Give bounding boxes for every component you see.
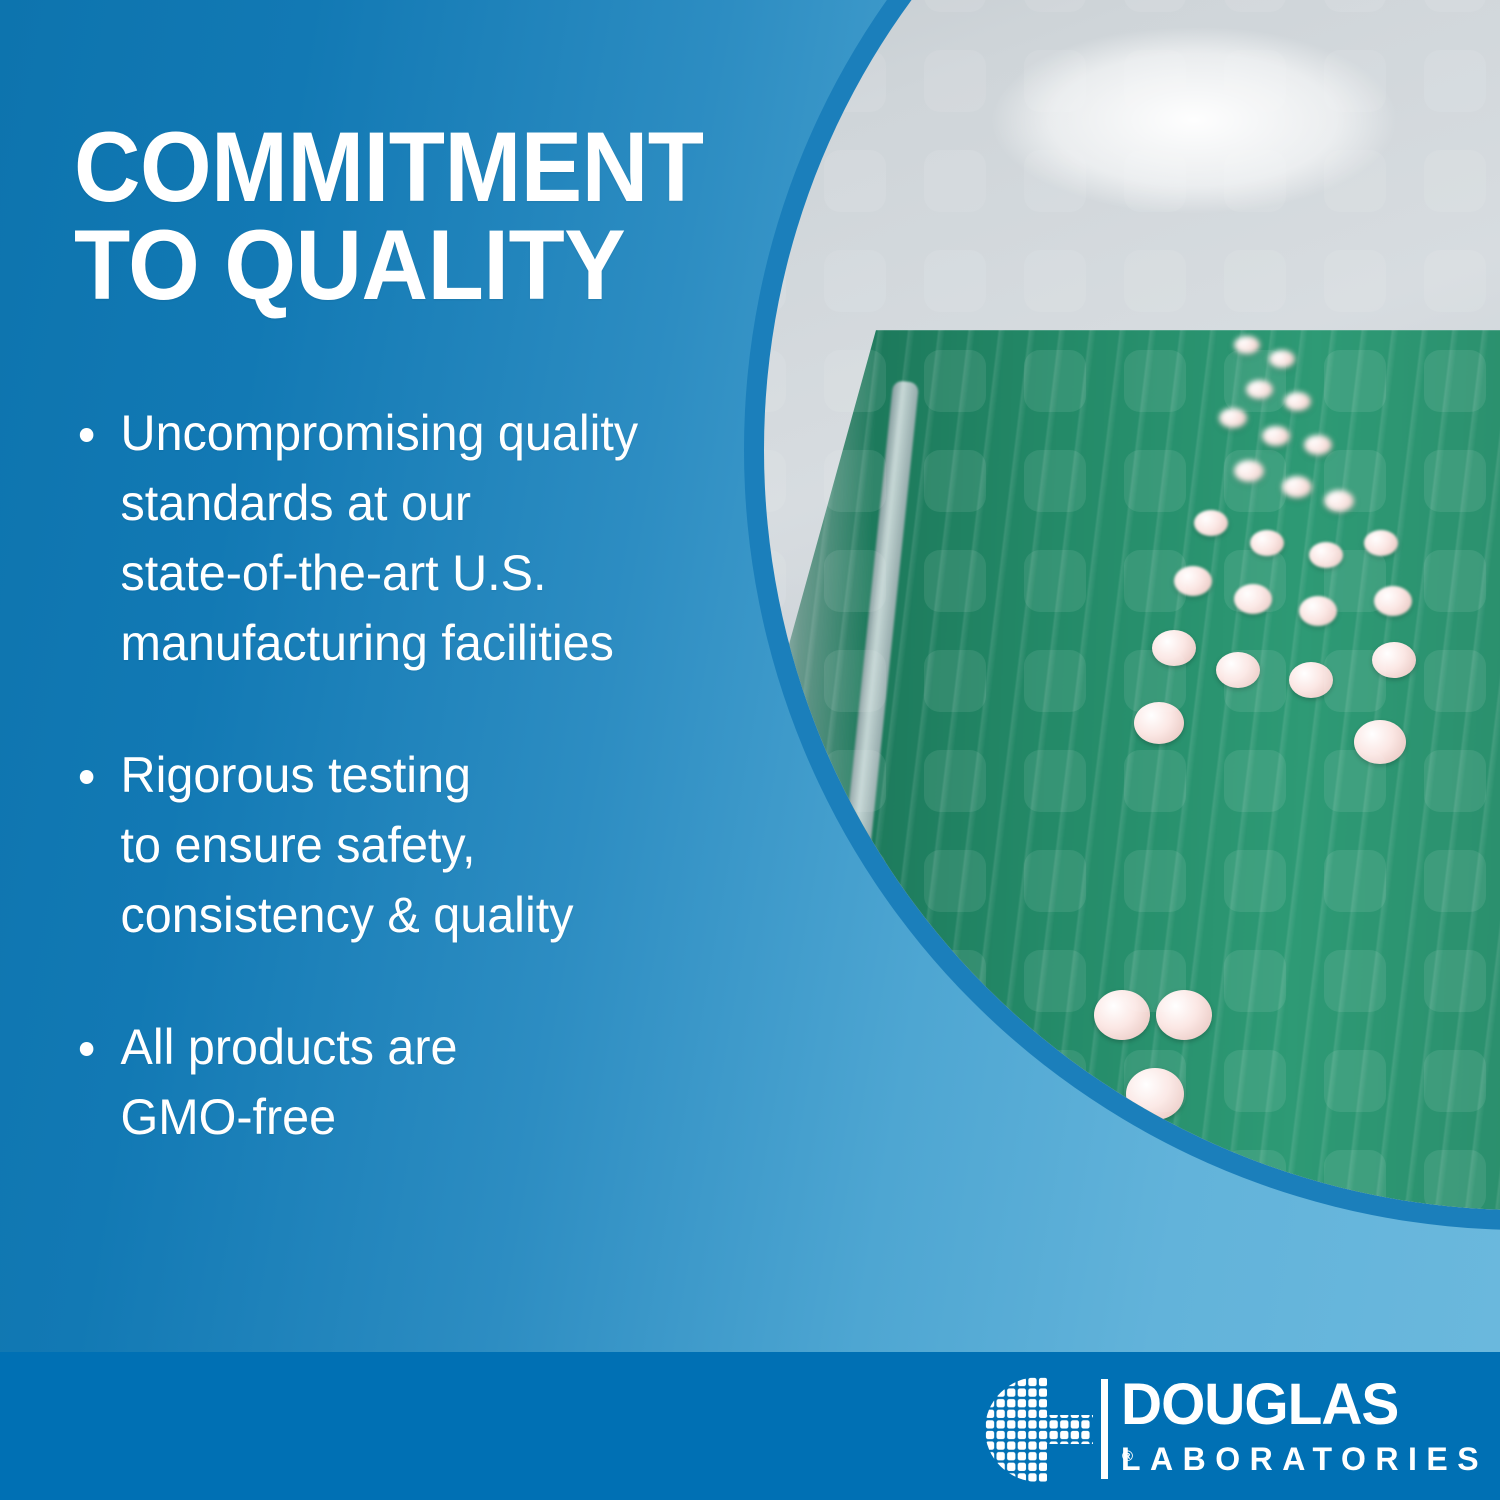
watermark-cell (824, 1150, 886, 1210)
watermark-cell (1024, 1050, 1086, 1112)
watermark-cell (924, 850, 986, 912)
watermark-cell (1024, 750, 1086, 812)
watermark-cell (1024, 150, 1086, 212)
list-item-line: All products are (121, 1012, 744, 1082)
watermark-cell (764, 950, 786, 1012)
watermark-cell (824, 1050, 886, 1112)
watermark-cell (1124, 250, 1186, 312)
list-item-quality-standards: Uncompromising quality standards at our … (74, 398, 743, 678)
photo-clip (764, 0, 1500, 1210)
logo-wordmark: DOUGLAS LABORATORIES® (1121, 1375, 1441, 1478)
watermark-cell (1024, 450, 1086, 512)
watermark-cell (924, 550, 986, 612)
watermark-cell (1124, 950, 1186, 1012)
bullet-dot-icon (80, 428, 94, 442)
watermark-cell (1424, 850, 1486, 912)
watermark-cell (924, 950, 986, 1012)
watermark-cell (1024, 350, 1086, 412)
watermark-cell (1324, 950, 1386, 1012)
watermark-cell (1424, 650, 1486, 712)
watermark-cell (1324, 1050, 1386, 1112)
watermark-cell (1324, 850, 1386, 912)
watermark-cell (924, 250, 986, 312)
watermark-cell (1024, 850, 1086, 912)
list-item-line: consistency & quality (121, 880, 744, 950)
watermark-cell (1224, 750, 1286, 812)
list-item-text: All products are GMO-free (121, 1012, 744, 1152)
watermark-grid-overlay (764, 0, 1500, 1210)
watermark-cell (824, 750, 886, 812)
watermark-cell (924, 350, 986, 412)
watermark-cell (824, 250, 886, 312)
brand-logo: DOUGLAS LABORATORIES® (985, 1375, 1430, 1487)
watermark-cell (1324, 1150, 1386, 1210)
watermark-cell (824, 0, 886, 12)
page-title: COMMITMENT TO QUALITY (74, 118, 706, 314)
list-item-line: manufacturing facilities (121, 608, 744, 678)
watermark-cell (1224, 1150, 1286, 1210)
watermark-cell (924, 150, 986, 212)
watermark-cell (1024, 50, 1086, 112)
watermark-cell (764, 1150, 786, 1210)
watermark-cell (1224, 650, 1286, 712)
watermark-cell (764, 150, 786, 212)
watermark-cell (924, 750, 986, 812)
watermark-cell (1124, 0, 1186, 12)
list-item-rigorous-testing: Rigorous testing to ensure safety, consi… (74, 740, 743, 950)
quality-commitment-banner: COMMITMENT TO QUALITY Uncompromising qua… (0, 0, 1500, 1500)
watermark-cell (764, 1050, 786, 1112)
page-title-line-2: TO QUALITY (74, 216, 706, 314)
watermark-cell (1224, 0, 1286, 12)
watermark-cell (1324, 750, 1386, 812)
copy-column: COMMITMENT TO QUALITY Uncompromising qua… (0, 0, 760, 1352)
bullet-dot-icon (80, 1042, 94, 1056)
watermark-cell (824, 950, 886, 1012)
watermark-cell (1124, 1150, 1186, 1210)
watermark-cell (764, 50, 786, 112)
douglas-g-grid-mark-icon (985, 1377, 1093, 1482)
watermark-cell (1024, 650, 1086, 712)
watermark-cell (1124, 350, 1186, 412)
watermark-cell (824, 650, 886, 712)
watermark-cell (1424, 550, 1486, 612)
watermark-cell (1024, 950, 1086, 1012)
watermark-cell (1124, 50, 1186, 112)
watermark-cell (1324, 150, 1386, 212)
watermark-cell (924, 1050, 986, 1112)
watermark-cell (1324, 50, 1386, 112)
page-title-line-1: COMMITMENT (74, 118, 706, 216)
watermark-cell (1224, 150, 1286, 212)
watermark-cell (1124, 450, 1186, 512)
watermark-cell (1424, 150, 1486, 212)
list-item-line: state-of-the-art U.S. (121, 538, 744, 608)
watermark-cell (824, 850, 886, 912)
logo-subbrand-text: LABORATORIES (1121, 1441, 1488, 1477)
watermark-cell (1424, 1050, 1486, 1112)
watermark-cell (924, 50, 986, 112)
logo-brand-name: DOUGLAS (1121, 1375, 1435, 1435)
watermark-cell (1424, 250, 1486, 312)
watermark-cell (1024, 550, 1086, 612)
watermark-cell (764, 850, 786, 912)
watermark-cell (1124, 650, 1186, 712)
registered-trademark-icon: ® (1122, 1438, 1143, 1476)
watermark-cell (1424, 50, 1486, 112)
watermark-cell (1424, 1150, 1486, 1210)
watermark-cell (1124, 550, 1186, 612)
list-item-line: standards at our (121, 468, 744, 538)
watermark-cell (824, 450, 886, 512)
watermark-cell (764, 750, 786, 812)
logo-subbrand-name: LABORATORIES® (1121, 1440, 1441, 1478)
watermark-cell (764, 550, 786, 612)
list-item-line: Uncompromising quality (121, 398, 744, 468)
watermark-cell (1024, 0, 1086, 12)
watermark-cell (1224, 350, 1286, 412)
watermark-cell (764, 650, 786, 712)
list-item-line: to ensure safety, (121, 810, 744, 880)
watermark-cell (924, 1150, 986, 1210)
watermark-cell (1124, 150, 1186, 212)
watermark-cell (1324, 0, 1386, 12)
watermark-cell (824, 550, 886, 612)
watermark-cell (1424, 450, 1486, 512)
watermark-cell (1324, 650, 1386, 712)
watermark-cell (764, 450, 786, 512)
bullet-dot-icon (80, 770, 94, 784)
watermark-cell (1124, 1050, 1186, 1112)
watermark-cell (1424, 0, 1486, 12)
watermark-cell (824, 150, 886, 212)
watermark-cell (924, 650, 986, 712)
watermark-cell (1324, 550, 1386, 612)
list-item-text: Rigorous testing to ensure safety, consi… (121, 740, 744, 950)
list-item-text: Uncompromising quality standards at our … (121, 398, 744, 678)
watermark-cell (1224, 450, 1286, 512)
watermark-cell (924, 450, 986, 512)
watermark-cell (1124, 850, 1186, 912)
watermark-cell (1224, 50, 1286, 112)
list-item-line: GMO-free (121, 1082, 744, 1152)
list-item-line: Rigorous testing (121, 740, 744, 810)
watermark-cell (1224, 950, 1286, 1012)
photo-circle-frame (744, 0, 1500, 1230)
watermark-cell (824, 350, 886, 412)
watermark-cell (1424, 950, 1486, 1012)
watermark-cell (924, 0, 986, 12)
watermark-cell (1024, 1150, 1086, 1210)
watermark-cell (1124, 750, 1186, 812)
watermark-cell (824, 50, 886, 112)
logo-divider (1101, 1379, 1108, 1479)
watermark-cell (1424, 750, 1486, 812)
watermark-cell (1224, 850, 1286, 912)
watermark-cell (1324, 250, 1386, 312)
watermark-cell (1024, 250, 1086, 312)
list-item-gmo-free: All products are GMO-free (74, 1012, 743, 1152)
watermark-cell (1324, 350, 1386, 412)
benefits-list: Uncompromising quality standards at our … (74, 398, 764, 1152)
watermark-cell (764, 350, 786, 412)
watermark-cell (764, 0, 786, 12)
watermark-cell (1224, 550, 1286, 612)
watermark-cell (1324, 450, 1386, 512)
watermark-cell (764, 250, 786, 312)
watermark-cell (1224, 1050, 1286, 1112)
watermark-cell (1424, 350, 1486, 412)
watermark-cell (1224, 250, 1286, 312)
